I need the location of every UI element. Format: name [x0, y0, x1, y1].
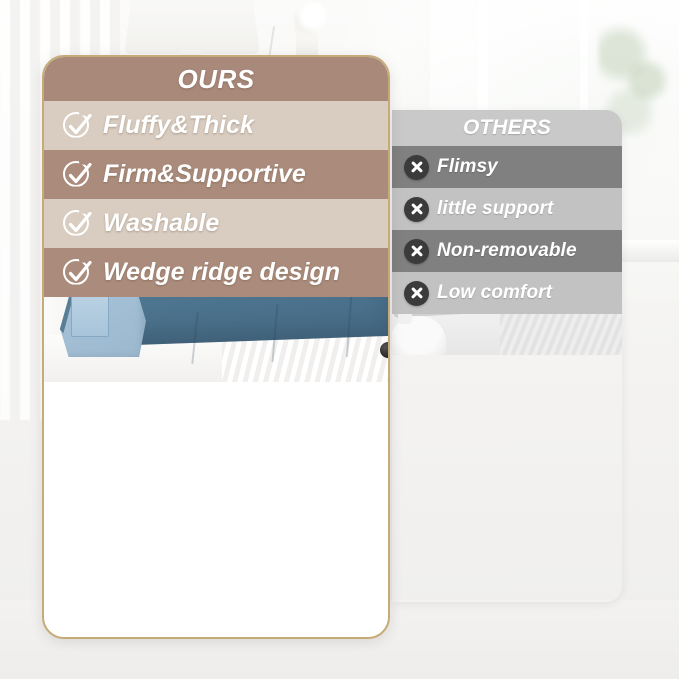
ours-card: OURS Fluffy&Thick Firm&Supportive — [42, 55, 390, 639]
ours-row-3: Washable — [44, 199, 388, 248]
check-circle-icon — [62, 160, 92, 190]
ours-row-1: Fluffy&Thick — [44, 101, 388, 150]
check-circle-icon — [62, 258, 92, 288]
x-circle-icon — [404, 239, 429, 264]
x-circle-icon — [404, 197, 429, 222]
table-lamp-shade — [124, 0, 260, 54]
ours-feature-label: Washable — [103, 209, 219, 238]
others-feature-label: Flimsy — [437, 156, 498, 178]
others-header-label: OTHERS — [463, 116, 551, 140]
comparison-infographic: OTHERS Flimsy little support Non-removab… — [0, 0, 679, 679]
others-panel: OTHERS Flimsy little support Non-removab… — [392, 110, 622, 602]
others-row-2: little support — [392, 188, 622, 230]
others-row-1: Flimsy — [392, 146, 622, 188]
x-circle-icon — [404, 155, 429, 180]
ours-row-2: Firm&Supportive — [44, 150, 388, 199]
flower-bloom — [294, 2, 328, 36]
others-feature-label: Non-removable — [437, 240, 577, 262]
others-header: OTHERS — [392, 110, 622, 146]
ours-feature-label: Firm&Supportive — [103, 160, 306, 189]
ours-header-label: OURS — [177, 64, 254, 95]
others-feature-label: Low comfort — [437, 282, 552, 304]
ours-feature-label: Wedge ridge design — [103, 258, 340, 287]
others-feature-label: little support — [437, 198, 553, 220]
check-circle-icon — [62, 111, 92, 141]
others-row-3: Non-removable — [392, 230, 622, 272]
x-circle-icon — [404, 281, 429, 306]
others-row-4: Low comfort — [392, 272, 622, 314]
ours-header: OURS — [44, 57, 388, 101]
check-circle-icon — [62, 209, 92, 239]
ours-row-4: Wedge ridge design — [44, 248, 388, 297]
ours-feature-label: Fluffy&Thick — [103, 111, 254, 140]
